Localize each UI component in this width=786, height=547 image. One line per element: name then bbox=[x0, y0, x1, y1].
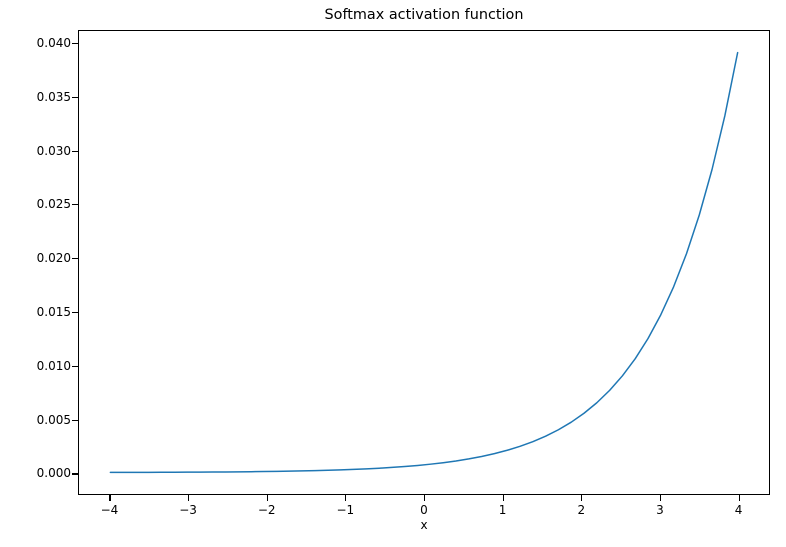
x-tick-mark bbox=[581, 495, 582, 501]
y-tick-mark bbox=[72, 312, 78, 313]
x-tick-mark bbox=[267, 495, 268, 501]
x-tick-label: 3 bbox=[640, 504, 680, 516]
x-tick-label: −1 bbox=[325, 504, 365, 516]
matplotlib-figure: Softmax activation function Softmax(x) 0… bbox=[0, 0, 786, 547]
y-tick-mark bbox=[72, 473, 78, 474]
y-tick-mark bbox=[72, 420, 78, 421]
y-tick-mark bbox=[72, 97, 78, 98]
x-tick-mark bbox=[424, 495, 425, 501]
softmax-curve bbox=[110, 53, 737, 473]
x-tick-label: −3 bbox=[168, 504, 208, 516]
x-axis-label: x bbox=[78, 518, 770, 532]
y-tick-mark bbox=[72, 151, 78, 152]
x-tick-label: −4 bbox=[89, 504, 129, 516]
x-tick-mark bbox=[660, 495, 661, 501]
y-tick-mark bbox=[72, 204, 78, 205]
plot-canvas bbox=[79, 31, 769, 494]
y-tick-mark bbox=[72, 43, 78, 44]
x-tick-mark bbox=[503, 495, 504, 501]
x-tick-mark bbox=[188, 495, 189, 501]
x-tick-label: 2 bbox=[561, 504, 601, 516]
x-tick-label: −2 bbox=[247, 504, 287, 516]
x-tick-label: 1 bbox=[483, 504, 523, 516]
x-tick-mark bbox=[739, 495, 740, 501]
x-tick-label: 4 bbox=[719, 504, 759, 516]
x-tick-label: 0 bbox=[404, 504, 444, 516]
y-tick-mark bbox=[72, 366, 78, 367]
x-tick-mark bbox=[345, 495, 346, 501]
plot-axes bbox=[78, 30, 770, 495]
y-tick-mark bbox=[72, 258, 78, 259]
x-tick-mark bbox=[109, 495, 110, 501]
